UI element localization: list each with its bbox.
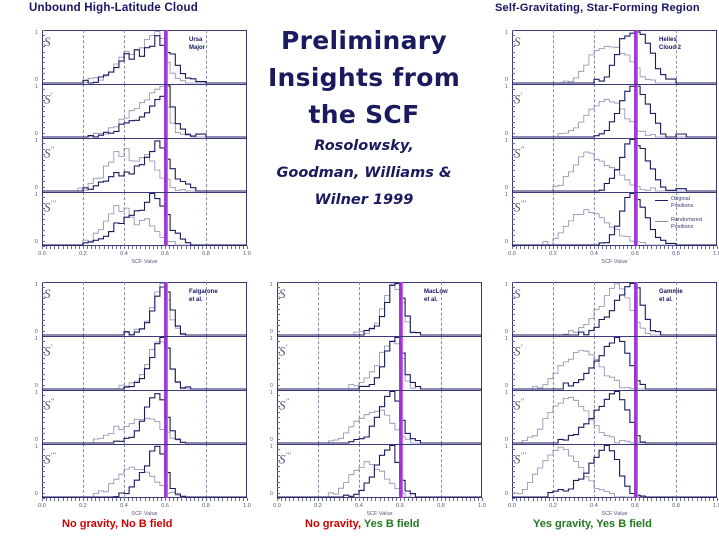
- x-tick-label: 1.0: [227, 251, 267, 257]
- curve-original: [512, 284, 717, 336]
- curve-randomized: [512, 351, 717, 389]
- scf-marker-line-edge: [402, 390, 403, 444]
- subpanel-Sp: [512, 336, 717, 390]
- x-tick-label: 0.6: [615, 503, 655, 509]
- subpanel-Spp: [42, 138, 247, 192]
- curve-original: [42, 86, 247, 137]
- curve-original: [512, 446, 717, 498]
- x-tick-label: 0.2: [63, 251, 103, 257]
- header-left: Unbound High-Latitude Cloud: [29, 2, 198, 14]
- y-tick-label-1: 1: [505, 139, 508, 144]
- y-tick-label-0: 0: [35, 492, 38, 497]
- x-tick-label: 0.4: [104, 251, 144, 257]
- y-tick-label-1: 1: [505, 337, 508, 342]
- curve-original: [42, 394, 247, 443]
- scf-marker-line-edge: [167, 138, 168, 192]
- subpanel-divider: [277, 336, 482, 337]
- y-tick-label-0: 0: [505, 132, 508, 137]
- y-tick-label-0: 0: [505, 492, 508, 497]
- histogram-curves: [512, 30, 717, 84]
- scf-marker-line-edge: [402, 444, 403, 498]
- y-tick-label-0: 0: [35, 384, 38, 389]
- scf-marker-line-edge: [637, 390, 638, 444]
- x-tick-label: 0.8: [656, 251, 696, 257]
- subpanel-label: S′′′: [44, 449, 56, 465]
- curve-randomized: [42, 86, 247, 137]
- x-axis-title: SCF Value: [575, 259, 655, 265]
- subpanel-Sppp: [277, 444, 482, 498]
- caption-1-part-2: Yes B field: [361, 518, 420, 530]
- y-tick-label-1: 1: [270, 391, 273, 396]
- subpanel-label: S′′′: [44, 197, 56, 213]
- y-tick-label-1: 1: [270, 445, 273, 450]
- scf-marker-line-edge: [637, 444, 638, 498]
- histogram-curves: [42, 390, 247, 444]
- scf-marker-line-edge: [637, 84, 638, 138]
- author-line-1: Rosolowsky,: [250, 133, 478, 160]
- x-tick-label: 0.0: [257, 503, 297, 509]
- subpanel-divider: [42, 336, 247, 337]
- x-tick-label: 0.6: [380, 503, 420, 509]
- subpanel-label: S′′′: [514, 449, 526, 465]
- curve-original: [512, 140, 717, 192]
- subpanel-divider: [512, 84, 717, 85]
- subpanel-Sppp: [42, 192, 247, 246]
- scf-marker-line-edge: [167, 444, 168, 498]
- scf-marker-line-edge: [167, 282, 168, 336]
- caption-gammie: Yes gravity, Yes B field: [533, 518, 652, 530]
- scf-marker-line-edge: [167, 84, 168, 138]
- x-tick-label: 0.8: [656, 503, 696, 509]
- scf-marker-line-edge: [167, 336, 168, 390]
- histogram-curves: [42, 30, 247, 84]
- y-tick-label-1: 1: [35, 283, 38, 288]
- x-tick-label: 0.6: [615, 251, 655, 257]
- scf-marker-line-edge: [637, 30, 638, 84]
- x-tick-label: 0.0: [492, 251, 532, 257]
- caption-1-part-1: No gravity,: [305, 518, 361, 530]
- subpanel-S: [512, 282, 717, 336]
- y-tick-label-0: 0: [35, 240, 38, 245]
- curve-randomized: [42, 32, 247, 84]
- histogram-curves: [42, 84, 247, 138]
- subpanel-label: S: [279, 287, 286, 300]
- x-tick-label: 0.0: [22, 251, 62, 257]
- subpanel-label: S′′′: [279, 449, 291, 465]
- x-tick-label: 0.8: [186, 503, 226, 509]
- y-tick-label-0: 0: [35, 78, 38, 83]
- y-tick-label-0: 0: [35, 330, 38, 335]
- y-tick-label-1: 1: [35, 31, 38, 36]
- histogram-curves: [42, 192, 247, 246]
- y-tick-label-1: 1: [35, 337, 38, 342]
- scf-marker-line-edge: [637, 336, 638, 390]
- x-tick-label: 0.4: [104, 503, 144, 509]
- scf-marker-line-edge: [637, 192, 638, 246]
- curve-original: [512, 32, 717, 83]
- x-axis-title: SCF Value: [105, 511, 185, 517]
- subpanel-label: S: [44, 35, 51, 48]
- y-tick-label-0: 0: [35, 438, 38, 443]
- histogram-curves: [512, 336, 717, 390]
- subpanel-S: [512, 30, 717, 84]
- y-tick-label-1: 1: [35, 391, 38, 396]
- subpanel-divider: [42, 390, 247, 391]
- y-tick-label-1: 1: [35, 139, 38, 144]
- x-tick-label: 0.2: [533, 251, 573, 257]
- subpanel-divider: [512, 336, 717, 337]
- x-axis-ticks: [42, 246, 247, 250]
- subpanel-Spp: [512, 138, 717, 192]
- subpanel-label: S′: [44, 89, 52, 105]
- panel-corner-label: HeilesCloud 2: [659, 36, 681, 52]
- scf-marker-line-edge: [167, 192, 168, 246]
- x-axis-title: SCF Value: [340, 511, 420, 517]
- y-tick-label-1: 1: [505, 445, 508, 450]
- caption-2-part-1: Yes gravity, Yes B field: [533, 518, 652, 530]
- scf-marker-line-edge: [402, 336, 403, 390]
- x-tick-label: 0.4: [574, 503, 614, 509]
- curve-randomized: [42, 418, 247, 443]
- y-tick-label-1: 1: [505, 391, 508, 396]
- chart-maclow: S10S′10S′′10S′′′10MacLowet al.0.00.20.40…: [257, 278, 486, 520]
- curve-randomized: [42, 342, 247, 389]
- y-tick-label-1: 1: [505, 283, 508, 288]
- caption-0-part-2: No B field: [118, 518, 172, 530]
- histogram-curves: [512, 444, 717, 498]
- x-axis-title: SCF Value: [575, 511, 655, 517]
- y-tick-label-1: 1: [35, 445, 38, 450]
- curve-original: [277, 392, 482, 444]
- subpanel-S: [277, 282, 482, 336]
- panel-corner-label: MacLowet al.: [424, 288, 448, 304]
- subpanel-label: S: [514, 35, 521, 48]
- curve-original: [512, 338, 717, 390]
- subpanel-label: S′′: [514, 395, 524, 411]
- author-line-2: Goodman, Williams &: [250, 160, 478, 187]
- y-tick-label-1: 1: [270, 337, 273, 342]
- curve-randomized: [277, 341, 482, 389]
- curve-randomized: [512, 397, 717, 443]
- subpanel-label: S′: [514, 89, 522, 105]
- subpanel-Sppp: [512, 444, 717, 498]
- scf-marker-line-edge: [167, 30, 168, 84]
- author-line-3: Wilner 1999: [250, 187, 478, 214]
- subpanel-label: S′: [44, 341, 52, 357]
- curve-original: [512, 86, 717, 137]
- curve-randomized: [42, 149, 247, 191]
- curve-randomized: [277, 462, 482, 497]
- scf-marker-line-edge: [637, 138, 638, 192]
- subpanel-Spp: [42, 390, 247, 444]
- histogram-curves: [277, 282, 482, 336]
- y-tick-label-1: 1: [35, 193, 38, 198]
- x-tick-label: 1.0: [697, 503, 719, 509]
- y-tick-label-0: 0: [505, 240, 508, 245]
- subpanel-label: S′′: [44, 395, 54, 411]
- x-tick-label: 0.8: [186, 251, 226, 257]
- subpanel-label: S′′: [279, 395, 289, 411]
- chart-gammie: S10S′10S′′10S′′′10Gammieet al.0.00.20.40…: [492, 278, 719, 520]
- subpanel-Sp: [277, 336, 482, 390]
- subpanel-label: S′′′: [514, 197, 526, 213]
- histogram-curves: [277, 444, 482, 498]
- histogram-curves: [512, 84, 717, 138]
- subpanel-divider: [42, 192, 247, 193]
- chart-ursa-major: S10S′10S′′10S′′′10UrsaMajor0.00.20.40.60…: [22, 26, 251, 268]
- y-tick-label-1: 1: [505, 85, 508, 90]
- y-tick-label-0: 0: [270, 492, 273, 497]
- x-tick-label: 0.4: [339, 503, 379, 509]
- scf-marker-line-edge: [402, 282, 403, 336]
- scf-marker-line-edge: [637, 282, 638, 336]
- subpanel-Sp: [42, 84, 247, 138]
- scf-marker-line-edge: [167, 390, 168, 444]
- curve-randomized: [42, 206, 247, 246]
- y-tick-label-1: 1: [505, 193, 508, 198]
- x-tick-label: 0.0: [22, 503, 62, 509]
- histogram-curves: [42, 138, 247, 192]
- x-axis-ticks: [512, 498, 717, 502]
- caption-0-part-1: No gravity,: [62, 518, 118, 530]
- subpanel-label: S′′: [44, 143, 54, 159]
- panel-corner-label: Falgaroneet al.: [189, 288, 218, 304]
- x-tick-label: 0.4: [574, 251, 614, 257]
- y-tick-label-0: 0: [270, 384, 273, 389]
- subpanel-Sp: [42, 336, 247, 390]
- subpanel-Sp: [512, 84, 717, 138]
- x-tick-label: 0.2: [63, 503, 103, 509]
- y-tick-label-0: 0: [270, 438, 273, 443]
- subpanel-label: S′′: [514, 143, 524, 159]
- curve-original: [42, 141, 247, 191]
- subpanel-divider: [512, 444, 717, 445]
- caption-falgarone: No gravity, No B field: [62, 518, 172, 530]
- subpanel-divider: [512, 138, 717, 139]
- header-right: Self-Gravitating, Star-Forming Region: [495, 2, 700, 14]
- curve-original: [512, 392, 717, 444]
- subpanel-S: [42, 30, 247, 84]
- histogram-curves: [512, 390, 717, 444]
- subpanel-Sppp: [42, 444, 247, 498]
- y-tick-label-0: 0: [505, 186, 508, 191]
- subpanel-divider: [42, 444, 247, 445]
- y-tick-label-0: 0: [505, 438, 508, 443]
- title-line-1: Preliminary: [250, 22, 478, 59]
- histogram-curves: [512, 138, 717, 192]
- y-tick-label-1: 1: [35, 85, 38, 90]
- subpanel-label: S′: [514, 341, 522, 357]
- subpanel-divider: [512, 390, 717, 391]
- subpanel-divider: [277, 444, 482, 445]
- x-axis-title: SCF Value: [105, 259, 185, 265]
- title-line-3: the SCF: [250, 96, 478, 133]
- subpanel-label: S: [44, 287, 51, 300]
- legend-swatch-randomized: [655, 221, 668, 222]
- x-axis-ticks: [277, 498, 482, 502]
- histogram-curves: [42, 444, 247, 498]
- x-tick-label: 0.6: [145, 251, 185, 257]
- legend-label-original: OriginalPositions: [671, 196, 693, 209]
- title-block: Preliminary Insights from the SCF Rosolo…: [250, 22, 478, 214]
- subpanel-label: S: [514, 287, 521, 300]
- histogram-curves: [277, 390, 482, 444]
- curve-original: [42, 446, 247, 497]
- x-axis-ticks: [42, 498, 247, 502]
- panel-corner-label: Gammieet al.: [659, 288, 683, 304]
- y-tick-label-0: 0: [505, 384, 508, 389]
- x-tick-label: 1.0: [697, 251, 719, 257]
- x-axis-ticks: [512, 246, 717, 250]
- x-tick-label: 0.8: [421, 503, 461, 509]
- histogram-curves: [512, 282, 717, 336]
- y-tick-label-1: 1: [270, 283, 273, 288]
- caption-maclow: No gravity, Yes B field: [305, 518, 420, 530]
- histogram-curves: [42, 336, 247, 390]
- legend-label-randomized: RandomizedPositions: [671, 217, 702, 230]
- subpanel-Spp: [277, 390, 482, 444]
- subpanel-divider: [277, 390, 482, 391]
- y-tick-label-0: 0: [505, 78, 508, 83]
- subpanel-label: S′: [279, 341, 287, 357]
- subpanel-Spp: [512, 390, 717, 444]
- x-tick-label: 0.2: [298, 503, 338, 509]
- y-tick-label-0: 0: [35, 186, 38, 191]
- subpanel-divider: [512, 192, 717, 193]
- y-tick-label-0: 0: [505, 330, 508, 335]
- x-tick-label: 0.6: [145, 503, 185, 509]
- y-tick-label-0: 0: [270, 330, 273, 335]
- chart-heiles-cloud-2: S10S′10S′′10S′′′10HeilesCloud 20.00.20.4…: [492, 26, 719, 268]
- x-tick-label: 0.2: [533, 503, 573, 509]
- x-tick-label: 0.0: [492, 503, 532, 509]
- curve-original: [42, 338, 247, 390]
- title-line-2: Insights from: [250, 59, 478, 96]
- y-tick-label-0: 0: [35, 132, 38, 137]
- subpanel-divider: [42, 84, 247, 85]
- legend-swatch-original: [655, 200, 668, 201]
- chart-falgarone: S10S′10S′′10S′′′10Falgaroneet al.0.00.20…: [22, 278, 251, 520]
- histogram-curves: [277, 336, 482, 390]
- panel-corner-label: UrsaMajor: [189, 36, 205, 52]
- y-tick-label-1: 1: [505, 31, 508, 36]
- subpanel-divider: [42, 138, 247, 139]
- curve-randomized: [277, 284, 482, 335]
